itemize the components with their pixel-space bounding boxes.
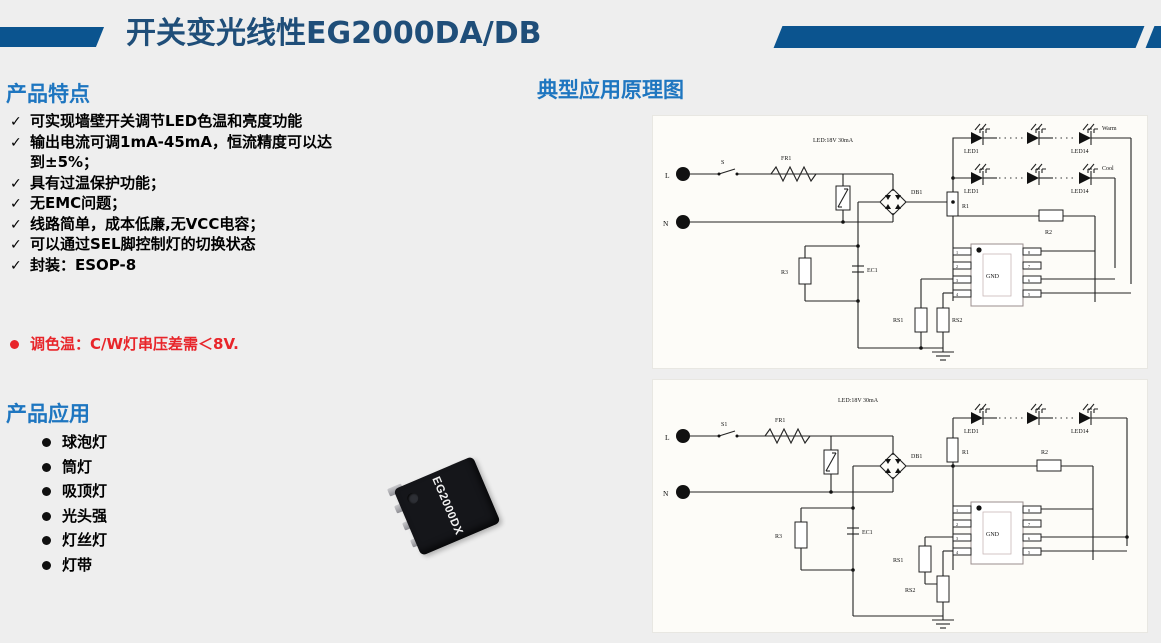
page-title: 开关变光线性EG2000DA/DB [126,8,541,52]
label-rs1: RS1 [893,318,903,324]
list-item: 筒灯 [36,457,107,477]
section-heading-applications: 产品应用 [6,398,90,428]
label-ic-pin: 8 [1028,250,1030,255]
feature-warning-note: 调色温：C/W灯串压差需＜8V. [6,335,239,354]
feature-item: ✓ 无EMC问题； [6,194,526,214]
label-switch: S1 [721,422,727,428]
label-ic-pin: 3 [956,278,958,283]
label-led-last-cool: LED14 [1071,189,1089,195]
feature-text: 输出电流可调1mA-45mA，恒流精度可以达 [30,133,332,153]
label-ic-center: GND [986,532,1000,538]
label-rs2: RS2 [905,588,915,594]
check-icon: ✓ [6,235,30,254]
check-icon: ✓ [6,256,30,275]
check-icon: ✓ [6,133,30,152]
label-neutral-in: N [663,489,669,498]
label-ic-pin: 7 [1028,264,1030,269]
applications-list: 球泡灯 筒灯 吸顶灯 光头强 灯丝灯 灯带 [36,432,107,579]
list-item: 吸顶灯 [36,481,107,501]
check-icon: ✓ [6,215,30,234]
chip-photo: EG2000DX [378,448,518,574]
features-list: ✓ 可实现墙壁开关调节LED色温和亮度功能 ✓ 输出电流可调1mA-45mA，恒… [6,112,526,276]
label-r1: R1 [962,204,969,210]
feature-text: 可以通过SEL脚控制灯的切换状态 [30,235,256,255]
label-fuse: FR1 [781,156,791,162]
bullet-dot-icon [36,530,62,550]
feature-text: 可实现墙壁开关调节LED色温和亮度功能 [30,112,302,132]
label-ic-pin: 1 [956,508,958,513]
label-r2: R2 [1045,230,1052,236]
label-ic-pin: 5 [1028,550,1030,555]
application-text: 球泡灯 [62,432,107,452]
label-ic-pin: 6 [1028,278,1030,283]
feature-text: 封装：ESOP-8 [30,256,136,276]
label-ic-pin: 3 [956,536,958,541]
bullet-dot-icon [36,481,62,501]
feature-item: ✓ 可实现墙壁开关调节LED色温和亮度功能 [6,112,526,132]
label-channel-warm: Warm [1102,126,1117,132]
label-ic-pin: 6 [1028,536,1030,541]
label-ic-pin: 1 [956,250,958,255]
feature-item: ✓ 具有过温保护功能； [6,174,526,194]
feature-text: 线路简单，成本低廉,无VCC电容； [30,215,264,235]
label-led-first-cool: LED1 [964,189,979,195]
header-accent-bar-right [774,26,1145,48]
label-line-in: L [665,433,670,442]
feature-item-continuation: 到±5%； [6,153,526,173]
application-text: 光头强 [62,506,107,526]
application-text: 灯带 [62,555,92,575]
check-icon: ✓ [6,194,30,213]
label-cap: EC1 [867,268,878,274]
label-ic-center: GND [986,274,1000,280]
bullet-dot-icon [36,506,62,526]
header-accent-bar-right-tip [1146,26,1161,48]
label-fuse: FR1 [775,418,785,424]
list-item: 光头强 [36,506,107,526]
label-led-spec: LED:18V 30mA [813,138,854,144]
feature-text: 具有过温保护功能； [30,174,165,194]
label-r2: R2 [1041,450,1048,456]
application-text: 吸顶灯 [62,481,107,501]
label-cap: EC1 [862,530,873,536]
label-ic-pin: 2 [956,264,958,269]
check-icon: ✓ [6,174,30,193]
application-text: 灯丝灯 [62,530,107,550]
feature-item: ✓ 线路简单，成本低廉,无VCC电容； [6,215,526,235]
list-item: 球泡灯 [36,432,107,452]
label-r3: R3 [775,534,782,540]
feature-item: ✓ 输出电流可调1mA-45mA，恒流精度可以达 [6,133,526,153]
feature-item: ✓ 可以通过SEL脚控制灯的切换状态 [6,235,526,255]
header-accent-bar-left [0,27,104,47]
label-r3: R3 [781,270,788,276]
schematic-panel-dual-channel: L N S FR1 DB1 LED:18V 30mA R1 [652,115,1148,369]
feature-item: ✓ 封装：ESOP-8 [6,256,526,276]
label-switch: S [721,160,724,166]
label-led-first: LED1 [964,429,979,435]
label-ic-pin: 5 [1028,292,1030,297]
label-bridge: DB1 [911,190,922,196]
label-bridge: DB1 [911,454,922,460]
section-heading-features: 产品特点 [6,78,90,108]
bullet-dot-icon [36,457,62,477]
label-rs2: RS2 [952,318,962,324]
application-text: 筒灯 [62,457,92,477]
label-led-last-warm: LED14 [1071,149,1089,155]
label-led-spec: LED:18V 30mA [838,398,879,404]
label-ic-pin: 7 [1028,522,1030,527]
page-header: 开关变光线性EG2000DA/DB [0,0,1161,66]
bullet-dot-icon [36,432,62,452]
label-line-in: L [665,171,670,180]
feature-text: 无EMC问题； [30,194,126,214]
feature-text: 到±5%； [30,153,98,173]
label-r1: R1 [962,450,969,456]
label-rs1: RS1 [893,558,903,564]
label-led-last: LED14 [1071,429,1089,435]
label-neutral-in: N [663,219,669,228]
check-icon: ✓ [6,112,30,131]
bullet-dot-icon [6,335,30,354]
label-led-first-warm: LED1 [964,149,979,155]
label-ic-pin: 8 [1028,508,1030,513]
list-item: 灯丝灯 [36,530,107,550]
section-heading-schematic: 典型应用原理图 [537,74,684,104]
schematic-panel-single-channel: L N S1 FR1 DB1 LED:18V 30mA R1 [652,379,1148,633]
list-item: 灯带 [36,555,107,575]
label-channel-cool: Cool [1102,166,1114,172]
label-ic-pin: 2 [956,522,958,527]
bullet-dot-icon [36,555,62,575]
feature-warning-text: 调色温：C/W灯串压差需＜8V. [30,335,239,354]
